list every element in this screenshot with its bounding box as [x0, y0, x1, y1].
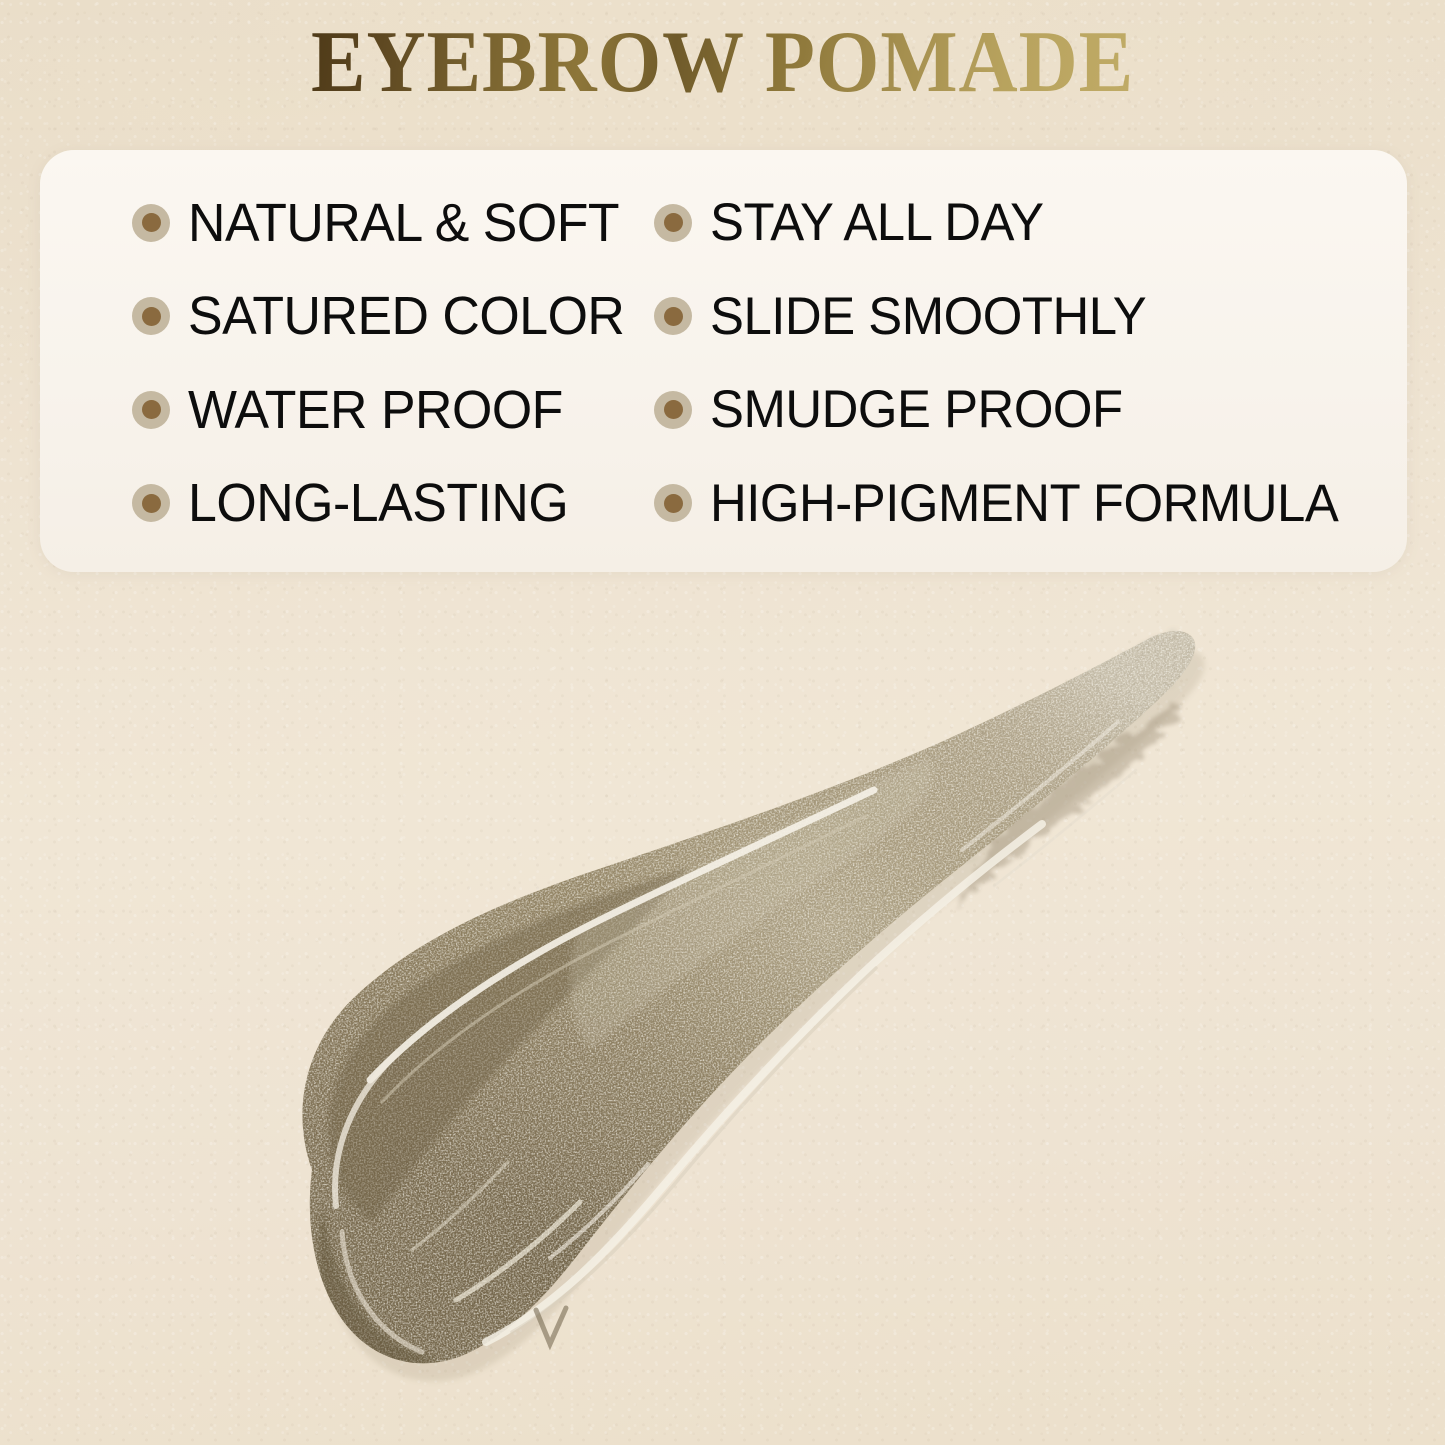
feature-item-long-lasting: LONG-LASTING — [40, 476, 628, 530]
bullet-icon — [654, 297, 692, 335]
feature-label: SLIDE SMOOTHLY — [710, 290, 1146, 343]
bullet-icon — [132, 391, 170, 429]
page-title: EYEBROW POMADE — [311, 16, 1134, 109]
product-poster: EYEBROW POMADE NATURAL & SOFT STAY ALL D… — [0, 0, 1445, 1445]
feature-item-slide-smoothly: SLIDE SMOOTHLY — [628, 290, 1407, 343]
feature-item-satured-color: SATURED COLOR — [40, 289, 628, 343]
feature-label: SMUDGE PROOF — [710, 383, 1123, 436]
feature-label: HIGH-PIGMENT FORMULA — [710, 477, 1338, 530]
feature-list-card: NATURAL & SOFT STAY ALL DAY SATURED COLO… — [40, 150, 1407, 572]
feature-item-water-proof: WATER PROOF — [40, 383, 628, 437]
title-container: EYEBROW POMADE — [0, 16, 1445, 109]
feature-label: STAY ALL DAY — [710, 196, 1044, 249]
bullet-icon — [654, 391, 692, 429]
eyebrow-pomade-smear — [250, 610, 1250, 1410]
feature-label: WATER PROOF — [188, 383, 563, 437]
product-swatch-stage — [0, 600, 1445, 1445]
bullet-icon — [654, 484, 692, 522]
feature-item-high-pigment-formula: HIGH-PIGMENT FORMULA — [628, 477, 1407, 530]
feature-label: LONG-LASTING — [188, 476, 568, 530]
feature-label: SATURED COLOR — [188, 289, 624, 343]
feature-label: NATURAL & SOFT — [188, 196, 619, 250]
feature-item-stay-all-day: STAY ALL DAY — [628, 196, 1407, 249]
swatch-body — [250, 610, 1250, 1410]
feature-grid: NATURAL & SOFT STAY ALL DAY SATURED COLO… — [40, 150, 1407, 572]
feature-item-natural-soft: NATURAL & SOFT — [40, 196, 628, 250]
feature-item-smudge-proof: SMUDGE PROOF — [628, 383, 1407, 436]
bullet-icon — [654, 204, 692, 242]
bullet-icon — [132, 204, 170, 242]
bullet-icon — [132, 484, 170, 522]
bullet-icon — [132, 297, 170, 335]
